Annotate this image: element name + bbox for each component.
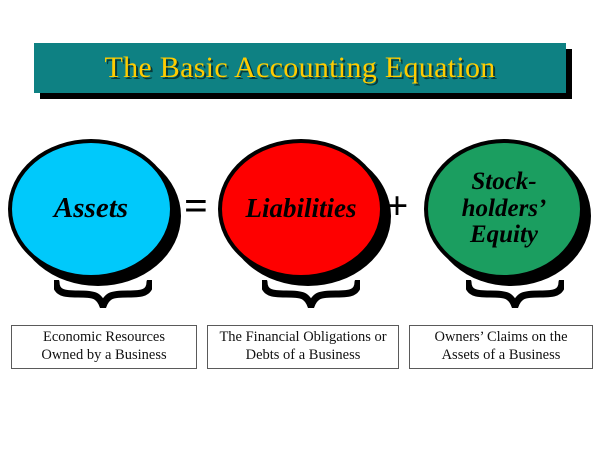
caption-text-assets: Economic Resources Owned by a Business bbox=[41, 329, 166, 364]
caption-box-liabilities: The Financial Obligations or Debts of a … bbox=[207, 325, 399, 369]
term-label-assets: Assets bbox=[50, 194, 132, 224]
term-circle-liabilities: Liabilities bbox=[218, 139, 384, 279]
caption-box-assets: Economic Resources Owned by a Business bbox=[11, 325, 197, 369]
underbrace-equity-icon bbox=[466, 280, 564, 308]
operator-equals: = bbox=[176, 186, 216, 228]
caption-box-equity: Owners’ Claims on the Assets of a Busine… bbox=[409, 325, 593, 369]
caption-text-equity: Owners’ Claims on the Assets of a Busine… bbox=[434, 329, 567, 364]
term-label-equity: Stock-holders’Equity bbox=[458, 169, 551, 249]
underbrace-assets-icon bbox=[54, 280, 152, 308]
operator-plus: + bbox=[378, 186, 416, 226]
term-circle-assets: Assets bbox=[8, 139, 174, 279]
caption-text-liabilities: The Financial Obligations or Debts of a … bbox=[219, 329, 386, 364]
underbrace-liabilities-icon bbox=[262, 280, 360, 308]
term-label-liabilities: Liabilities bbox=[242, 195, 361, 223]
term-circle-equity: Stock-holders’Equity bbox=[424, 139, 584, 279]
title-banner: The Basic Accounting Equation bbox=[34, 43, 566, 93]
page-title: The Basic Accounting Equation bbox=[34, 43, 566, 93]
